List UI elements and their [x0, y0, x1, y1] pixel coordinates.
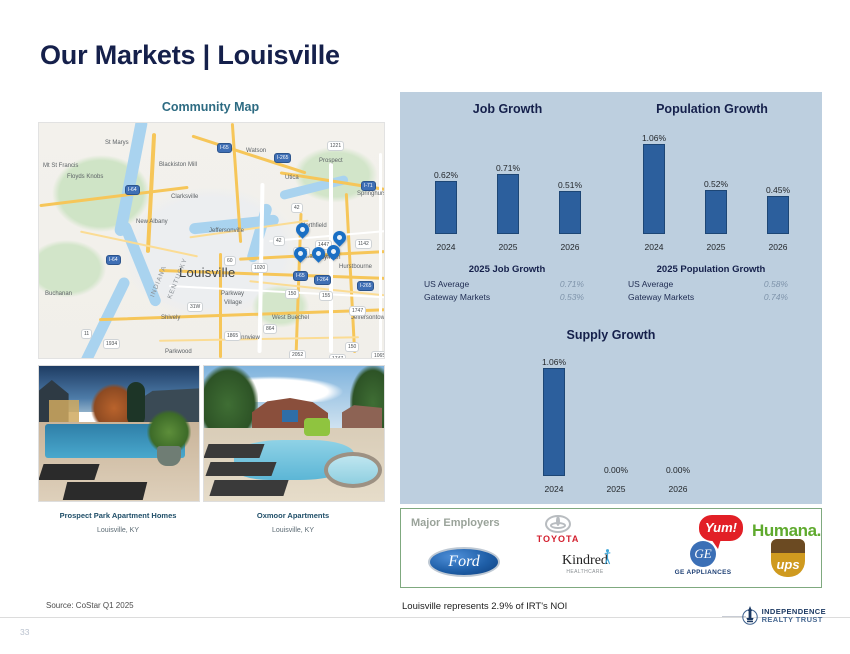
map-route-shield: I-65	[293, 271, 308, 281]
bar	[543, 368, 565, 476]
bar-category-label: 2024	[526, 484, 582, 494]
map-route-shield: 1747	[349, 306, 366, 316]
stats-label: US Average	[628, 278, 673, 291]
photo-tree	[203, 366, 258, 436]
map-route-shield: I-64	[106, 255, 121, 265]
slide-root: Our Markets | Louisville Community Map	[0, 0, 850, 654]
photo-spa	[324, 452, 382, 488]
photo-location: Louisville, KY	[38, 527, 198, 534]
community-map-label: Community Map	[38, 100, 383, 114]
ups-shield-icon: ups	[771, 539, 805, 577]
noi-note: Louisville represents 2.9% of IRT's NOI	[402, 601, 567, 612]
stats-value: 0.53%	[560, 291, 584, 304]
photo-lounge-chair	[63, 482, 147, 500]
map-place-label: Utica	[285, 175, 299, 181]
stats-title: 2025 Job Growth	[412, 264, 602, 275]
map-place-label: New Albany	[136, 219, 168, 225]
map-canvas: St MarysMt St FrancisFloyds KnobsBlackis…	[39, 123, 384, 358]
chart-title-population-growth: Population Growth	[612, 102, 812, 116]
map-place-label: Shively	[161, 315, 180, 321]
map-route-shield: 42	[291, 203, 303, 213]
photo-lounge-chair	[205, 462, 276, 476]
map-city-label: Louisville	[179, 265, 235, 280]
bar-value-label: 0.52%	[688, 179, 744, 189]
bar-value-label: 0.00%	[650, 465, 706, 475]
bar-category-label: 2025	[688, 242, 744, 252]
photo-lounge-chair	[38, 464, 99, 480]
map-place-label: Springhurst	[357, 191, 385, 197]
map-place-label: Blackiston Mill	[159, 162, 197, 168]
stats-row: Gateway Markets 0.74%	[616, 291, 806, 304]
map-route-shield: 42	[273, 236, 285, 246]
bar-category-label: 2024	[626, 242, 682, 252]
bar	[559, 191, 581, 234]
photo-conifer	[127, 382, 145, 426]
brand-logo: INDEPENDENCE REALTY TRUST	[742, 604, 826, 628]
photo-lounge-chair	[209, 480, 288, 496]
logo-text: ups	[771, 557, 805, 572]
logo-subtext: HEALTHCARE	[539, 569, 631, 575]
map-route-shield: I-64	[125, 185, 140, 195]
map-route-shield: 1865	[224, 331, 241, 341]
map-route-shield: 1065	[371, 351, 385, 359]
bar-group: 0.62%2024	[418, 126, 474, 256]
bar-value-label: 0.00%	[588, 465, 644, 475]
stats-value: 0.71%	[560, 278, 584, 291]
major-employers-box: Major Employers TOYOTA Yum! Humana. Ford…	[400, 508, 822, 588]
bar-value-label: 0.71%	[480, 163, 536, 173]
logo-text: Humana.	[689, 521, 821, 541]
bar	[435, 181, 457, 234]
stats-title: 2025 Population Growth	[616, 264, 806, 275]
bar-value-label: 1.06%	[626, 133, 682, 143]
bar-category-label: 2026	[650, 484, 706, 494]
map-place-label: Jeffersonville	[209, 228, 244, 234]
map-route-shield: 2052	[289, 350, 306, 359]
page-number: 33	[20, 627, 29, 637]
stats-row: US Average 0.71%	[412, 278, 602, 291]
map-place-label: St Marys	[105, 140, 129, 146]
logo-ge-appliances: GE GE APPLIANCES	[655, 541, 751, 576]
kindred-figure-icon	[604, 547, 611, 567]
bar-value-label: 1.06%	[526, 357, 582, 367]
stats-job-growth: 2025 Job Growth US Average 0.71% Gateway…	[412, 264, 602, 304]
map-route-shield: I-265	[274, 153, 291, 163]
map-place-label: Prospect	[319, 158, 343, 164]
property-photo-oxmoor	[203, 365, 385, 502]
map-route-shield: 150	[285, 289, 299, 299]
photo-caption: Prospect Park Apartment Homes	[38, 511, 198, 520]
map-route-shield: 864	[263, 324, 277, 334]
bar-group: 0.52%2025	[688, 126, 744, 256]
map-route-shield: 155	[319, 291, 333, 301]
bar-group: 1.06%2024	[526, 350, 582, 498]
stats-row: US Average 0.58%	[616, 278, 806, 291]
bar-value-label: 0.51%	[542, 180, 598, 190]
community-map[interactable]: St MarysMt St FrancisFloyds KnobsBlackis…	[38, 122, 385, 359]
map-route-shield: 1221	[327, 141, 344, 151]
brand-line-2: REALTY TRUST	[762, 616, 826, 625]
source-note: Source: CoStar Q1 2025	[46, 601, 134, 610]
chart-supply-growth: 1.06%20240.00%20250.00%2026	[512, 350, 710, 498]
map-route-shield: I-265	[357, 281, 374, 291]
stats-label: Gateway Markets	[628, 291, 694, 304]
page-title: Our Markets | Louisville	[40, 40, 340, 71]
bar-group: 1.06%2024	[626, 126, 682, 256]
map-place-label: Parkwood	[165, 349, 192, 355]
stats-population-growth: 2025 Population Growth US Average 0.58% …	[616, 264, 806, 304]
brand-text: INDEPENDENCE REALTY TRUST	[762, 608, 826, 625]
bar-group: 0.00%2025	[588, 350, 644, 498]
map-route-shield: 31W	[187, 302, 203, 312]
logo-humana: Humana.	[689, 521, 821, 541]
road	[379, 153, 382, 353]
photo-plant	[147, 410, 191, 450]
map-route-shield: I-71	[361, 181, 376, 191]
map-route-shield: 1747	[329, 354, 346, 359]
bar-category-label: 2026	[750, 242, 806, 252]
bar	[767, 196, 789, 234]
bar-category-label: 2026	[542, 242, 598, 252]
map-route-shield: I-65	[217, 143, 232, 153]
map-route-shield: I-264	[314, 275, 331, 285]
map-place-label: Buchanan	[45, 291, 72, 297]
chart-title-supply-growth: Supply Growth	[511, 328, 711, 342]
map-route-shield: 60	[224, 256, 236, 266]
chart-job-growth: 0.62%20240.71%20250.51%2026	[408, 126, 603, 256]
logo-text: Kindred	[562, 553, 608, 568]
major-employers-label: Major Employers	[411, 517, 500, 529]
map-place-label: Watson	[246, 148, 266, 154]
footer-divider	[0, 617, 850, 618]
bar	[643, 144, 665, 234]
logo-text: GE APPLIANCES	[655, 569, 751, 576]
stats-value: 0.74%	[764, 291, 788, 304]
map-place-label: West Buechel	[272, 315, 309, 321]
stats-label: US Average	[424, 278, 469, 291]
logo-ford: Ford	[419, 547, 509, 577]
bar-group: 0.00%2026	[650, 350, 706, 498]
map-route-shield: 150	[345, 342, 359, 352]
bar-category-label: 2024	[418, 242, 474, 252]
chart-population-growth: 1.06%20240.52%20250.45%2026	[614, 126, 812, 256]
bar-group: 0.51%2026	[542, 126, 598, 256]
stats-value: 0.58%	[764, 278, 788, 291]
stats-row: Gateway Markets 0.53%	[412, 291, 602, 304]
bar-group: 0.45%2026	[750, 126, 806, 256]
map-place-label: Hurstbourne	[339, 264, 372, 270]
map-place-label: Mt St Francis	[43, 163, 78, 169]
map-place-label: Parkway	[221, 291, 244, 297]
bar-category-label: 2025	[480, 242, 536, 252]
monument-icon	[742, 604, 758, 628]
bar-value-label: 0.45%	[750, 185, 806, 195]
logo-kindred: Kindred HEALTHCARE	[539, 551, 631, 575]
metrics-panel: Job Growth 0.62%20240.71%20250.51%2026 P…	[400, 92, 822, 504]
map-place-label: Village	[224, 300, 242, 306]
map-place-label: Floyds Knobs	[67, 174, 103, 180]
map-route-shield: 1142	[355, 239, 372, 249]
bar	[497, 174, 519, 234]
map-route-shield: 11	[81, 329, 92, 339]
bar-group: 0.71%2025	[480, 126, 536, 256]
photo-planter	[157, 446, 181, 466]
stats-label: Gateway Markets	[424, 291, 490, 304]
map-place-label: Clarksville	[171, 194, 198, 200]
bar-category-label: 2025	[588, 484, 644, 494]
photo-awning	[282, 410, 298, 422]
map-route-shield: 1020	[251, 263, 268, 273]
photo-umbrella	[304, 418, 330, 436]
toyota-emblem-icon	[545, 515, 571, 533]
bar-value-label: 0.62%	[418, 170, 474, 180]
chart-title-job-growth: Job Growth	[410, 102, 605, 116]
ge-monogram-icon: GE	[690, 541, 716, 567]
photo-location: Louisville, KY	[203, 527, 383, 534]
bar	[705, 190, 727, 234]
photo-caption: Oxmoor Apartments	[203, 511, 383, 520]
logo-text: TOYOTA	[523, 534, 593, 544]
map-route-shield: 1934	[103, 339, 120, 349]
logo-toyota: TOYOTA	[523, 515, 593, 544]
property-photo-prospect-park	[38, 365, 200, 502]
logo-ups: ups	[763, 539, 813, 577]
photo-lounge-chair	[203, 444, 264, 458]
logo-text: Ford	[428, 547, 500, 577]
